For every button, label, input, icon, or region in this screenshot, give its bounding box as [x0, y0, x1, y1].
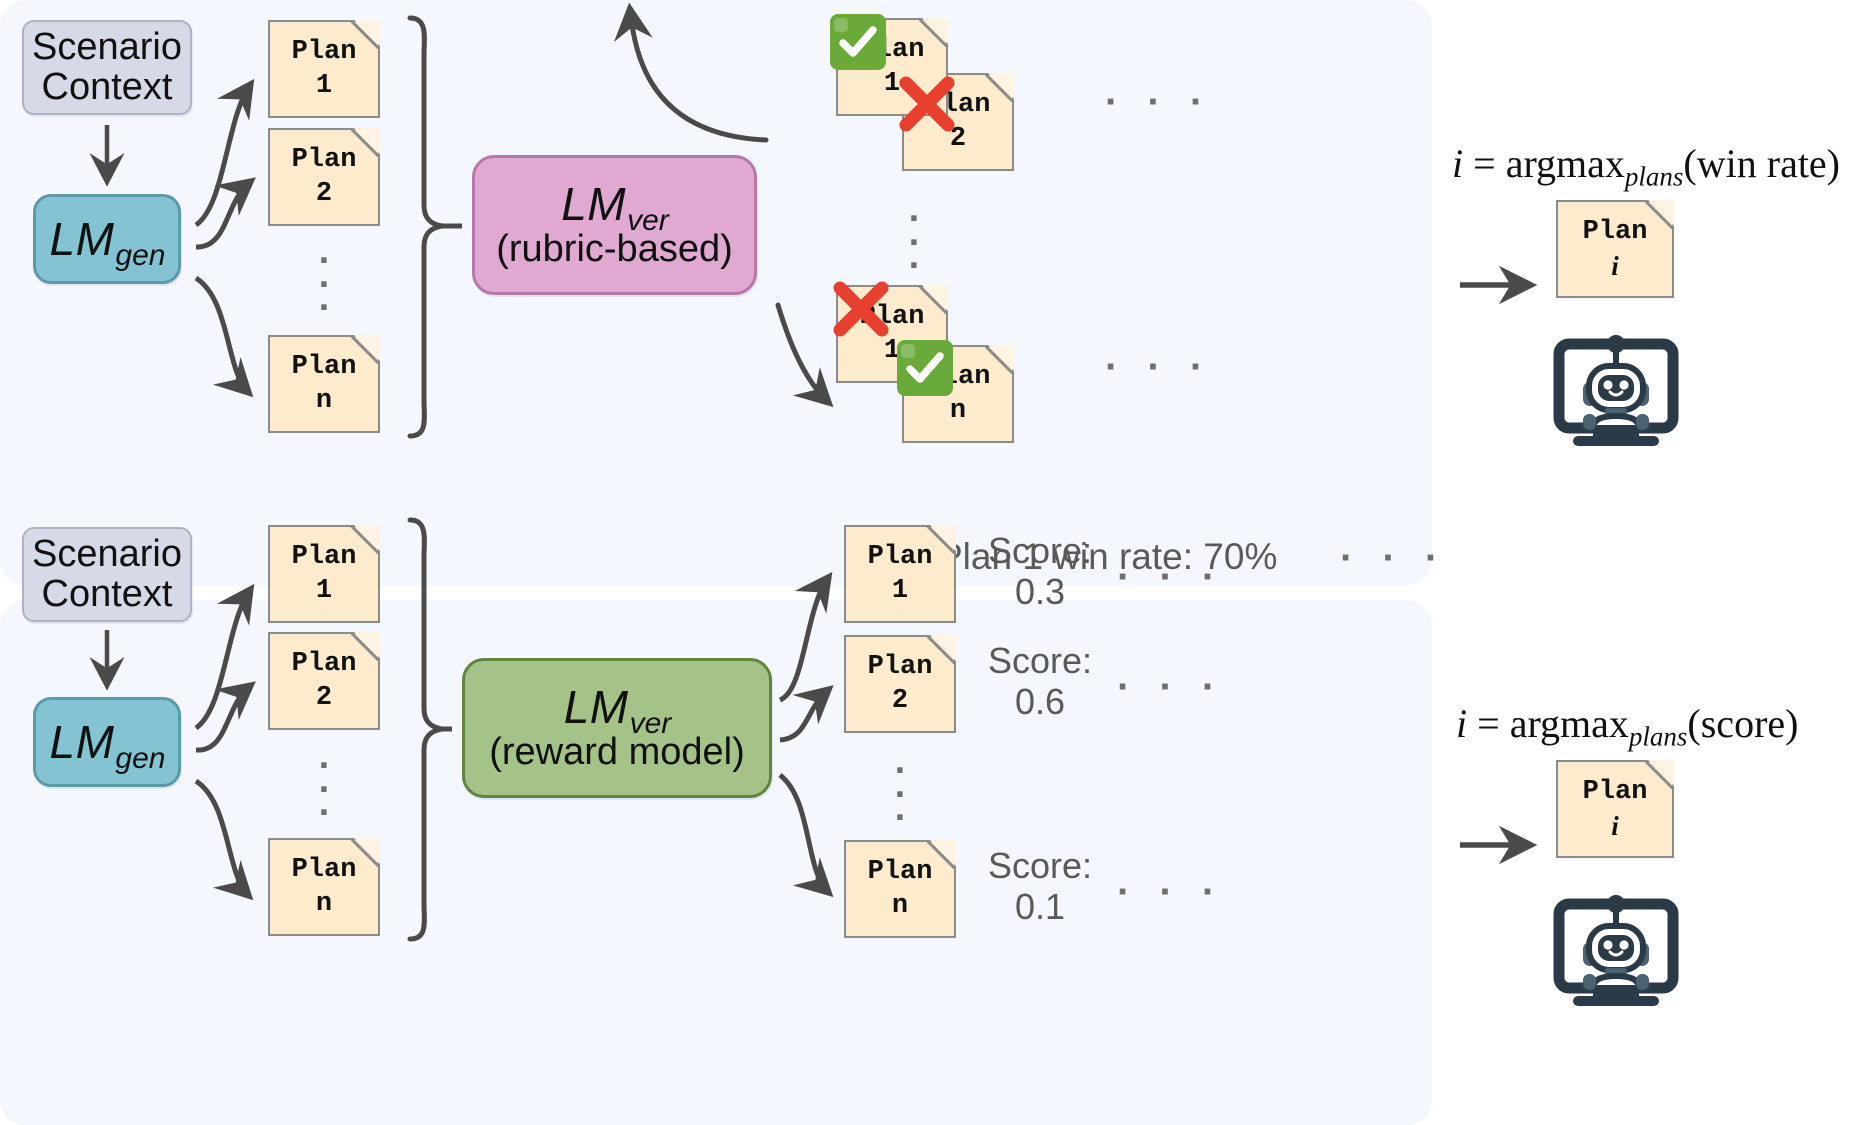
- page-fold-edge: [351, 633, 379, 661]
- comparison-trailing-ellipsis: · · ·: [1105, 80, 1212, 125]
- verdict-cross-icon: [893, 70, 961, 138]
- verdict-check-icon: [897, 340, 953, 396]
- formula-equals: =: [1477, 701, 1500, 746]
- score-trailing-ellipsis: · · ·: [1117, 870, 1224, 915]
- generated-plan-doc: Plan 1: [268, 525, 380, 623]
- plan-index: i: [1611, 811, 1619, 842]
- plan-index: n: [950, 396, 966, 426]
- generated-plan-doc: Plan n: [268, 335, 380, 433]
- verdict-cross-icon: [827, 275, 895, 343]
- lm-ver-qualifier: (rubric-based): [496, 230, 733, 270]
- score-readout: Score: 0.1: [965, 845, 1115, 928]
- plan-title: Plan: [1583, 217, 1648, 247]
- scored-vertical-ellipsis-reward: ···: [876, 760, 926, 831]
- plan-index: 1: [316, 71, 332, 101]
- page-fold-edge: [351, 129, 379, 157]
- plan-title: Plan: [292, 542, 357, 572]
- formula-equals: =: [1473, 141, 1496, 186]
- page-fold-edge: [927, 841, 955, 869]
- lm-ver-subscript: ver: [627, 204, 669, 237]
- scored-plan-doc: Plan n: [844, 840, 956, 938]
- formula-subscript: plans: [1625, 162, 1684, 192]
- selection-formula-reward: i = argmaxplans(score): [1456, 700, 1798, 753]
- plan-index: 1: [316, 576, 332, 606]
- formula-operator: argmax: [1510, 701, 1629, 746]
- lm-gen-box-rubric: LMgen: [33, 194, 181, 284]
- plan-index: n: [316, 386, 332, 416]
- robot-monitor-icon: [1553, 890, 1679, 1013]
- lm-gen-label-rubric: LMgen: [50, 215, 165, 263]
- lm-gen-name: LM: [50, 213, 115, 265]
- plans-vertical-ellipsis-reward: ···: [300, 755, 350, 826]
- selected-plan-doc-reward: Plan i: [1556, 760, 1674, 858]
- formula-lhs: i: [1456, 701, 1467, 746]
- score-value: 0.6: [1015, 681, 1065, 722]
- lm-gen-box-reward: LMgen: [33, 697, 181, 787]
- score-readout: Score: 0.6: [965, 640, 1115, 723]
- scored-plan-doc: Plan 1: [844, 525, 956, 623]
- score-trailing-ellipsis: · · ·: [1117, 665, 1224, 710]
- win-rate-trailing-ellipsis: · · ·: [1340, 536, 1447, 581]
- selection-formula-rubric: i = argmaxplans(win rate): [1452, 140, 1840, 193]
- page-fold-edge: [351, 336, 379, 364]
- page-fold-edge: [1645, 761, 1673, 789]
- formula-operator: argmax: [1506, 141, 1625, 186]
- generated-plan-doc: Plan 2: [268, 128, 380, 226]
- lm-ver-subscript: ver: [630, 707, 672, 740]
- plan-title: Plan: [868, 652, 933, 682]
- lm-ver-qualifier: (reward model): [489, 733, 745, 773]
- score-label: Score:: [988, 530, 1092, 571]
- plan-title: Plan: [1583, 777, 1648, 807]
- score-readout: Score: 0.3: [965, 530, 1115, 613]
- scenario-context-line2: Context: [42, 68, 173, 108]
- lm-gen-label-reward: LMgen: [50, 718, 165, 766]
- lm-gen-subscript: gen: [115, 239, 165, 272]
- scored-plan-doc: Plan 2: [844, 635, 956, 733]
- generated-plan-doc: Plan n: [268, 838, 380, 936]
- plan-title: Plan: [292, 37, 357, 67]
- comparison-trailing-ellipsis: · · ·: [1105, 345, 1212, 390]
- lm-gen-name: LM: [50, 716, 115, 768]
- page-fold-edge: [927, 636, 955, 664]
- formula-argument: (win rate): [1683, 141, 1840, 186]
- page-fold-edge: [351, 21, 379, 49]
- page-fold-edge: [985, 346, 1013, 374]
- plan-index: n: [316, 889, 332, 919]
- scenario-context-line1: Scenario: [32, 535, 182, 575]
- diagram-canvas: Scenario Context LMgen Plan 1 Plan 2 ···…: [0, 0, 1850, 1125]
- lm-ver-label-rubric: LMver (rubric-based): [496, 180, 733, 270]
- formula-lhs: i: [1452, 141, 1463, 186]
- score-label: Score:: [988, 640, 1092, 681]
- page-fold-edge: [351, 839, 379, 867]
- plan-index: 2: [892, 686, 908, 716]
- plan-index: 2: [316, 179, 332, 209]
- verdict-check-icon: [830, 14, 886, 70]
- robot-monitor-icon: [1553, 330, 1679, 453]
- scenario-context-line2: Context: [42, 575, 173, 615]
- plan-title: Plan: [868, 542, 933, 572]
- scenario-context-box-reward: Scenario Context: [22, 527, 192, 622]
- selected-plan-doc-rubric: Plan i: [1556, 200, 1674, 298]
- plans-vertical-ellipsis-rubric: ···: [300, 250, 350, 321]
- score-value: 0.3: [1015, 571, 1065, 612]
- formula-argument: (score): [1687, 701, 1798, 746]
- plan-title: Plan: [292, 145, 357, 175]
- plan-index: 1: [892, 576, 908, 606]
- page-fold-edge: [985, 74, 1013, 102]
- scenario-context-line1: Scenario: [32, 28, 182, 68]
- lm-ver-label-reward: LMver (reward model): [489, 683, 745, 773]
- plan-title: Plan: [292, 649, 357, 679]
- generated-plan-doc: Plan 2: [268, 632, 380, 730]
- page-fold-edge: [351, 526, 379, 554]
- lm-ver-name: LM: [561, 178, 626, 230]
- score-trailing-ellipsis: · · ·: [1117, 555, 1224, 600]
- lm-ver-box-rubric: LMver (rubric-based): [472, 155, 757, 295]
- score-label: Score:: [988, 845, 1092, 886]
- lm-gen-subscript: gen: [115, 742, 165, 775]
- scenario-context-box-rubric: Scenario Context: [22, 20, 192, 115]
- plan-index: 2: [316, 683, 332, 713]
- page-fold-edge: [927, 526, 955, 554]
- lm-ver-name: LM: [564, 681, 629, 733]
- plan-title: Plan: [868, 857, 933, 887]
- score-value: 0.1: [1015, 886, 1065, 927]
- plan-title: Plan: [292, 855, 357, 885]
- plan-index: i: [1611, 251, 1619, 282]
- page-fold-edge: [919, 286, 947, 314]
- plan-index: n: [892, 891, 908, 921]
- page-fold-edge: [1645, 201, 1673, 229]
- plan-title: Plan: [292, 352, 357, 382]
- lm-ver-box-reward: LMver (reward model): [462, 658, 772, 798]
- generated-plan-doc: Plan 1: [268, 20, 380, 118]
- page-fold-edge: [919, 19, 947, 47]
- formula-subscript: plans: [1629, 722, 1688, 752]
- comparison-vertical-ellipsis-rubric: ···: [890, 208, 940, 279]
